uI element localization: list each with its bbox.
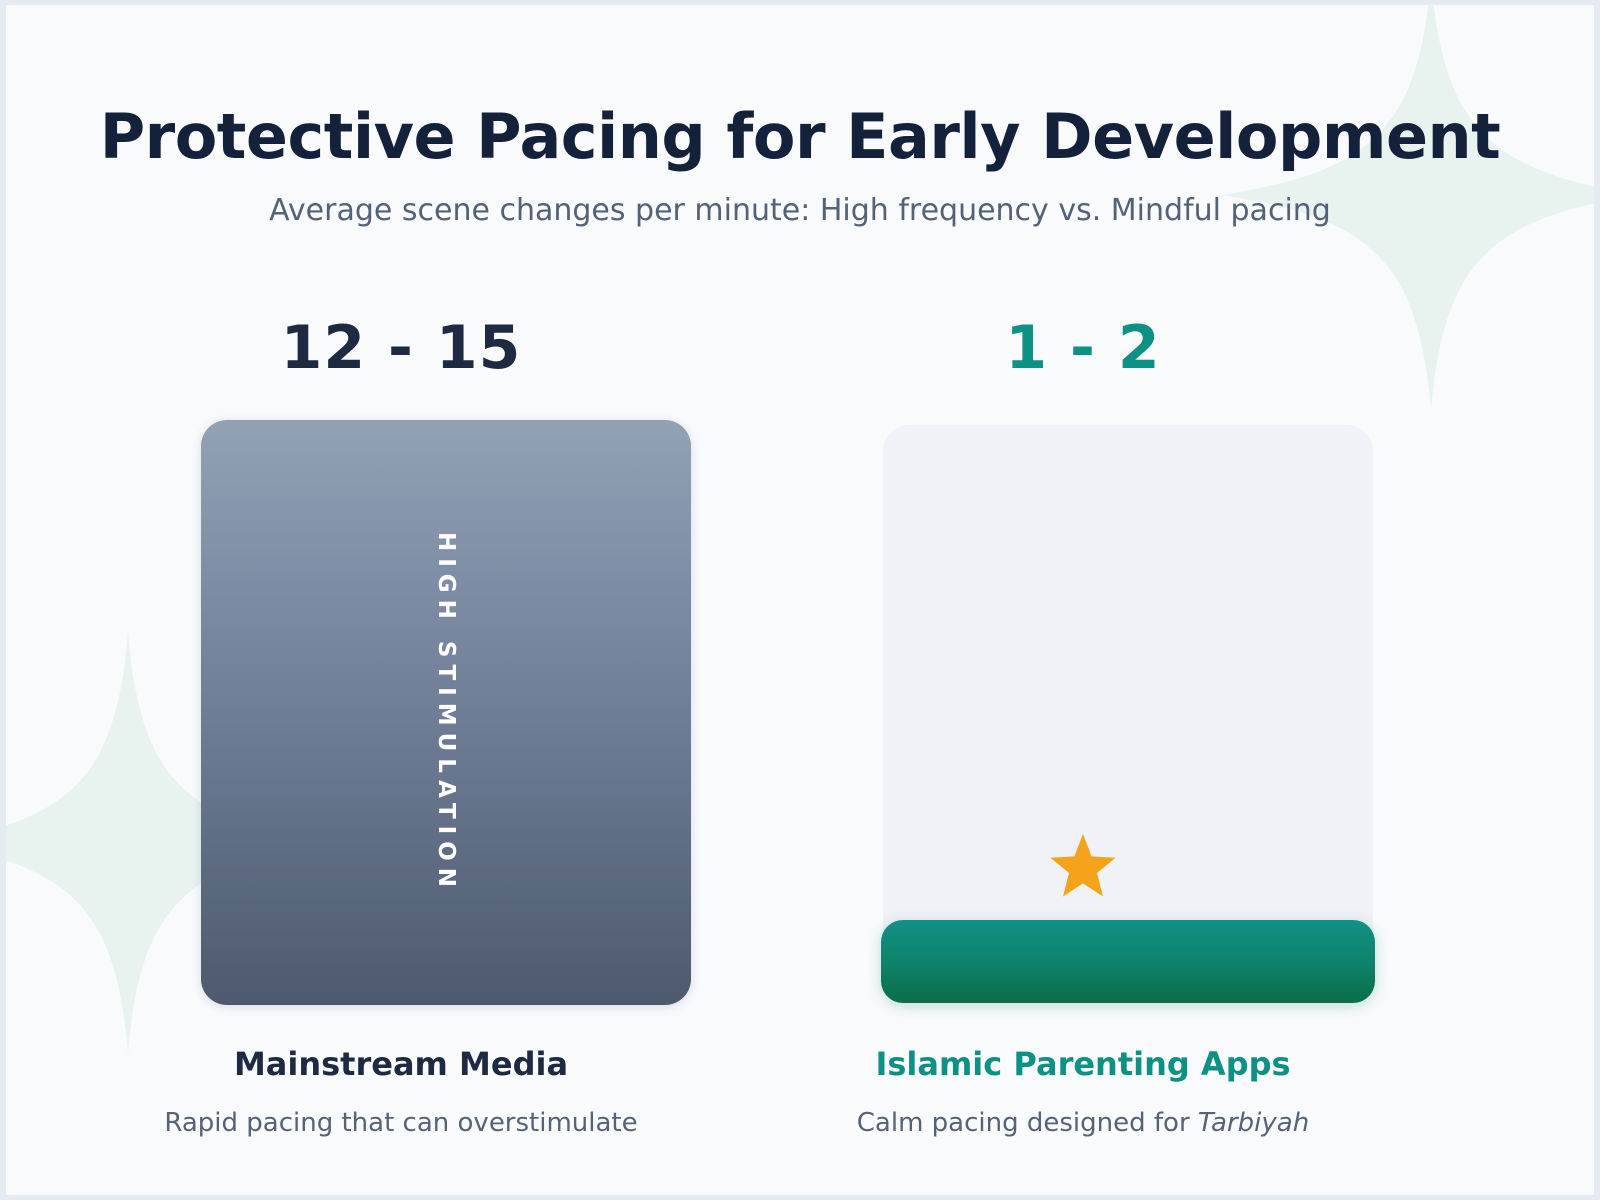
bar-overlay-label: HIGH STIMULATION (433, 531, 459, 893)
description-emphasis: Tarbiyah (1198, 1108, 1309, 1138)
value-label-mainstream: 12 - 15 (89, 315, 713, 403)
description-prefix: Calm pacing designed for (857, 1108, 1198, 1138)
bar-track-islamic-apps (883, 425, 1373, 1003)
chart-header: Protective Pacing for Early Development … (6, 5, 1594, 229)
column-mainstream-media: 12 - 15 HIGH STIMULATION Mainstream Medi… (89, 315, 713, 1143)
bar-islamic-parenting-apps[interactable] (881, 920, 1375, 1003)
category-label-islamic-apps: Islamic Parenting Apps (771, 1045, 1395, 1083)
bar-mainstream-media[interactable]: HIGH STIMULATION (201, 420, 691, 1005)
bar-area-islamic-apps (771, 403, 1395, 1003)
page-title: Protective Pacing for Early Development (6, 5, 1594, 169)
category-description-mainstream: Rapid pacing that can overstimulate (89, 1105, 713, 1143)
category-label-mainstream: Mainstream Media (89, 1045, 713, 1083)
star-icon (1049, 833, 1117, 902)
bar-area-mainstream: HIGH STIMULATION (89, 403, 713, 1003)
category-description-islamic-apps: Calm pacing designed for Tarbiyah (771, 1105, 1395, 1143)
page-subtitle: Average scene changes per minute: High f… (6, 169, 1594, 229)
value-label-islamic-apps: 1 - 2 (771, 315, 1395, 403)
infographic-page: Protective Pacing for Early Development … (6, 5, 1594, 1195)
column-islamic-parenting-apps: 1 - 2 Islamic Parenting Apps Calm pacing… (771, 315, 1395, 1143)
